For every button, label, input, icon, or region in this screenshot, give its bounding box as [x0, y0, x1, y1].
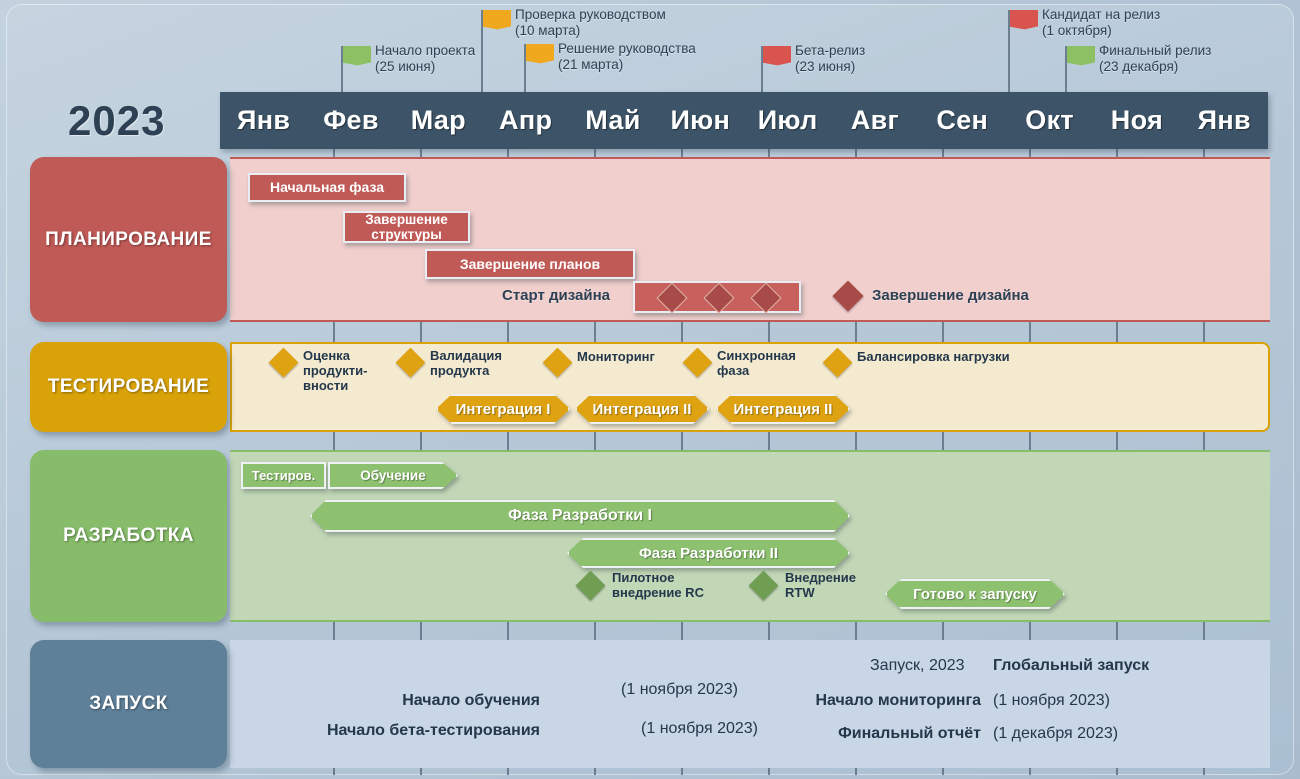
flag-pole: [1065, 46, 1067, 94]
launch-entry-date-3: (1 ноября 2023): [993, 692, 1110, 710]
launch-entry-date-0: (1 ноября 2023): [621, 681, 738, 699]
productivity-eval-label: Оценка продукти- вности: [303, 348, 367, 393]
lane-planning-label[interactable]: ПЛАНИРОВАНИЕ: [30, 157, 227, 322]
chevron-integration-3[interactable]: Интеграция II: [716, 394, 850, 424]
chevron-label: Фаза Разработки II: [639, 545, 778, 562]
lane-launch-label[interactable]: ЗАПУСК: [30, 640, 227, 768]
chevron-label: Обучение: [360, 468, 425, 483]
flag-pole: [761, 46, 763, 94]
month-cell-8: Сен: [919, 92, 1006, 149]
sync-phase-label: Синхронная фаза: [717, 348, 796, 378]
load-balancing-label: Балансировка нагрузки: [857, 349, 1010, 364]
milestone-diamond-rtw[interactable]: [753, 575, 774, 596]
diamond-marker: [703, 282, 734, 313]
chevron-label: Интеграция I: [456, 401, 551, 418]
chevron-label: Интеграция II: [734, 401, 833, 418]
chevron-training[interactable]: Обучение: [328, 462, 458, 489]
month-header-bar: Янв Фев Мар Апр Май Июн Июл Авг Сен Окт …: [220, 92, 1268, 149]
chevron-dev-phase-2[interactable]: Фаза Разработки II: [567, 538, 850, 568]
launch-entry-date-2: Глобальный запуск: [993, 657, 1149, 675]
launch-entry-date-4: (1 декабря 2023): [993, 725, 1118, 743]
launch-entry-date-1: (1 ноября 2023): [641, 720, 758, 738]
task-bar-plans-complete[interactable]: Завершение планов: [425, 249, 635, 279]
month-cell-0: Янв: [220, 92, 307, 149]
milestone-flag-label: Решение руководства (21 марта): [558, 41, 696, 73]
chevron-ready-to-launch[interactable]: Готово к запуску: [885, 579, 1065, 609]
launch-entry-name-0: Начало обучения: [402, 692, 540, 710]
milestone-diamond-monitoring[interactable]: [547, 352, 568, 373]
milestone-flag-label: Бета-релиз (23 июня): [795, 43, 865, 75]
month-cell-2: Мар: [395, 92, 482, 149]
diamond-marker: [656, 282, 687, 313]
design-progress-strip[interactable]: [633, 281, 801, 313]
pilot-rc-label: Пилотное внедрение RC: [612, 570, 704, 600]
month-cell-6: Июл: [744, 92, 831, 149]
milestone-diamond-sync-phase[interactable]: [687, 352, 708, 373]
flag-pole: [524, 44, 526, 94]
chevron-label: Тестиров.: [252, 468, 315, 483]
gantt-chart-canvas: Начало проекта (25 июня) Проверка руково…: [0, 0, 1300, 779]
milestone-flag-label: Проверка руководством (10 марта): [515, 7, 666, 39]
product-validation-label: Валидация продукта: [430, 348, 502, 378]
month-cell-9: Окт: [1006, 92, 1093, 149]
month-cell-5: Июн: [657, 92, 744, 149]
flag-pole: [1008, 10, 1010, 94]
flag-pole: [481, 10, 483, 94]
milestone-diamond-pilot-rc[interactable]: [580, 575, 601, 596]
lane-planning: ПЛАНИРОВАНИЕ Начальная фаза Завершение с…: [30, 157, 1270, 322]
chevron-integration-2[interactable]: Интеграция II: [575, 394, 709, 424]
chevron-label: Готово к запуску: [913, 586, 1037, 603]
lane-development-label[interactable]: РАЗРАБОТКА: [30, 450, 227, 622]
month-cell-4: Май: [569, 92, 656, 149]
monitoring-label: Мониторинг: [577, 349, 655, 364]
lane-launch: ЗАПУСК Начало обучения (1 ноября 2023) Н…: [30, 640, 1270, 768]
task-bar-structure-complete[interactable]: Завершение структуры: [343, 211, 470, 243]
milestone-flag-label: Кандидат на релиз (1 октября): [1042, 7, 1160, 39]
chevron-dev-phase-1[interactable]: Фаза Разработки I: [310, 500, 850, 532]
diamond-marker: [750, 282, 781, 313]
launch-entry-name-1: Начало бета-тестирования: [327, 722, 540, 740]
year-label: 2023: [68, 97, 165, 145]
milestone-flag-label: Начало проекта (25 июня): [375, 43, 475, 75]
milestone-diamond-load-balancing[interactable]: [827, 352, 848, 373]
lane-testing-label[interactable]: ТЕСТИРОВАНИЕ: [30, 342, 227, 432]
month-cell-10: Ноя: [1093, 92, 1180, 149]
design-complete-label: Завершение дизайна: [872, 287, 1029, 304]
chevron-label: Фаза Разработки I: [508, 507, 652, 525]
launch-entry-name-2: Запуск, 2023: [870, 657, 965, 675]
month-cell-1: Фев: [307, 92, 394, 149]
milestone-diamond-productivity-eval[interactable]: [273, 352, 294, 373]
month-cell-7: Авг: [831, 92, 918, 149]
launch-entry-name-4: Финальный отчёт: [838, 725, 981, 743]
milestone-diamond-product-validation[interactable]: [400, 352, 421, 373]
chevron-label: Интеграция II: [593, 401, 692, 418]
milestone-diamond-design-complete[interactable]: [837, 285, 859, 307]
chevron-testing-short[interactable]: Тестиров.: [241, 462, 326, 489]
design-start-label: Старт дизайна: [502, 287, 610, 304]
flag-pole: [341, 46, 343, 94]
milestone-flag-label: Финальный релиз (23 декабря): [1099, 43, 1211, 75]
chevron-integration-1[interactable]: Интеграция I: [436, 394, 570, 424]
month-cell-11: Янв: [1181, 92, 1268, 149]
task-bar-initial-phase[interactable]: Начальная фаза: [248, 173, 406, 202]
lane-testing: ТЕСТИРОВАНИЕ Оценка продукти- вности Вал…: [30, 342, 1270, 432]
month-cell-3: Апр: [482, 92, 569, 149]
rtw-label: Внедрение RTW: [785, 570, 856, 600]
launch-entry-name-3: Начало мониторинга: [815, 692, 981, 710]
lane-development: РАЗРАБОТКА Тестиров. Обучение Фаза Разра…: [30, 450, 1270, 622]
